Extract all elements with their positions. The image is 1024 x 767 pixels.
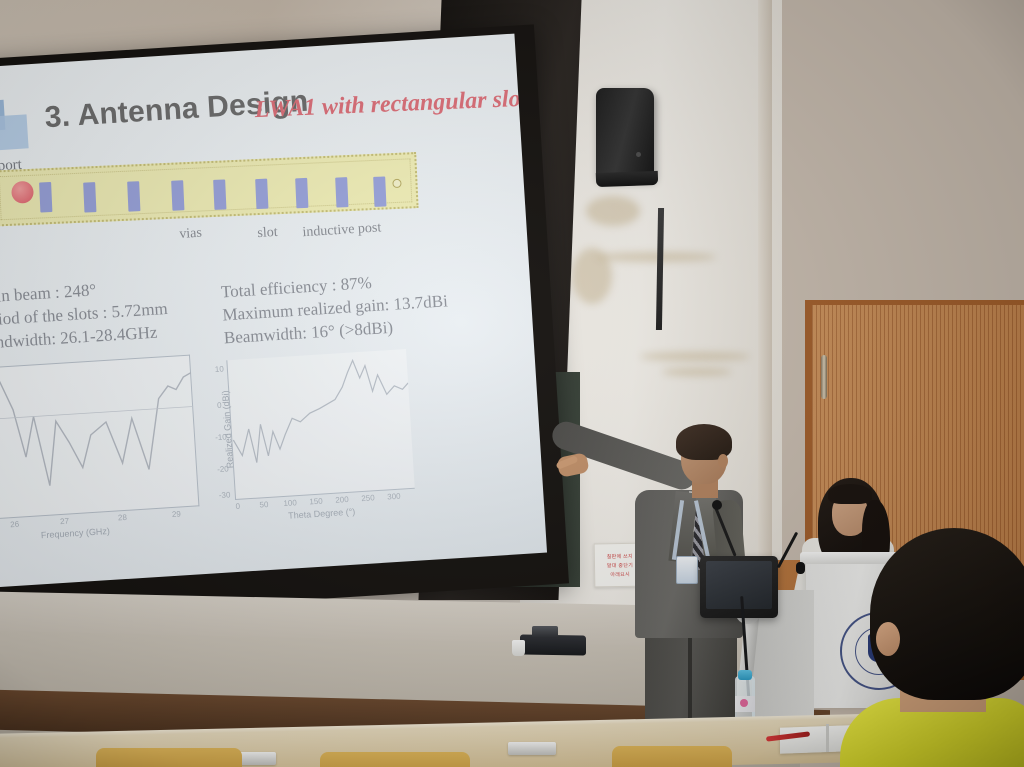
x-tick: 300 — [387, 492, 401, 502]
antenna-slot — [255, 179, 268, 209]
wall-corner-edge — [758, 0, 772, 560]
notebook-spine — [826, 724, 829, 752]
wall-speaker — [596, 88, 654, 180]
x-tick: 27 — [60, 517, 69, 527]
sign-line: 말대 중단기 — [607, 561, 633, 568]
x-tick: 29 — [172, 509, 181, 519]
x-tick: 50 — [259, 500, 268, 510]
sign-line: 칠판에 쓰지 — [607, 552, 633, 559]
slide-decoration-square — [0, 114, 29, 150]
x-axis-title: Theta Degree (°) — [288, 507, 356, 521]
y-tick: 0 — [217, 401, 222, 410]
antenna-diagram — [0, 152, 419, 226]
podium-microphone-head — [796, 562, 805, 574]
slide-specs-right: Total efficiency : 87% Maximum realized … — [220, 266, 450, 349]
wall-stain — [586, 196, 640, 226]
x-tick: 100 — [283, 498, 297, 508]
antenna-substrate-border — [0, 158, 412, 220]
x-tick: 0 — [235, 502, 240, 511]
x-tick: 200 — [335, 495, 349, 505]
x-axis-title: Frequency (GHz) — [41, 526, 111, 540]
sign-line: 아래요시 — [610, 570, 630, 577]
x-tick: 26 — [10, 520, 19, 530]
attendee-ear — [876, 622, 900, 656]
speaker-indicator — [636, 152, 641, 157]
assistant-bangs — [828, 484, 872, 504]
antenna-slot — [373, 176, 386, 206]
wall-stain — [640, 352, 750, 361]
slide-specs-left: Main beam : 248° Period of the slots : 5… — [0, 274, 170, 355]
presenter-monitor-screen — [706, 561, 772, 609]
y-tick: 10 — [215, 365, 224, 375]
y-tick: -10 — [215, 432, 227, 442]
wall-stain — [596, 252, 716, 262]
wall-stain — [662, 368, 732, 376]
antenna-slot — [83, 182, 96, 212]
label-vias: vias — [179, 226, 203, 243]
x-tick: 150 — [309, 497, 323, 507]
projection-screen: 3. Antenna Design LWA1 with rectangular … — [0, 34, 547, 588]
label-inductive-post: inductive post — [302, 220, 382, 241]
antenna-slot — [335, 177, 348, 207]
antenna-slot — [39, 182, 52, 212]
antenna-slot — [127, 181, 140, 211]
av-equipment-top — [532, 626, 558, 638]
antenna-slot — [213, 179, 226, 209]
chart-realized-gain: Realized Gain (dBi) Theta Degree (°) 0 5… — [226, 349, 414, 500]
x-tick: 28 — [118, 513, 127, 523]
paper-cup — [512, 640, 525, 656]
door-handle[interactable] — [821, 355, 827, 399]
water-bottle-logo — [740, 699, 748, 707]
y-tick: -30 — [219, 490, 231, 500]
antenna-slot — [295, 178, 308, 208]
audience-chair — [320, 752, 470, 767]
y-tick: -20 — [217, 464, 229, 474]
presenter-conference-badge — [676, 556, 698, 584]
speaker-grille-lip — [596, 171, 658, 187]
audience-chair — [612, 746, 732, 767]
chart-s11: 26 27 28 29 Frequency (GHz) — [0, 355, 199, 521]
presentation-photo: 3. Antenna Design LWA1 with rectangular … — [0, 0, 1024, 767]
attendee-hair — [870, 528, 1024, 700]
presenter-ear — [718, 454, 728, 468]
label-slot: slot — [257, 225, 278, 242]
antenna-slot — [171, 180, 184, 210]
water-bottle-cap — [738, 670, 752, 680]
gain-curve — [226, 349, 414, 500]
desk-nameplate — [508, 742, 556, 755]
x-tick: 250 — [361, 493, 375, 503]
slide-content: 3. Antenna Design LWA1 with rectangular … — [0, 34, 547, 588]
s11-curve — [0, 355, 199, 521]
projection-screen-frame: 3. Antenna Design LWA1 with rectangular … — [0, 24, 569, 619]
audience-chair — [96, 748, 242, 767]
gooseneck-microphone-head — [712, 500, 722, 510]
